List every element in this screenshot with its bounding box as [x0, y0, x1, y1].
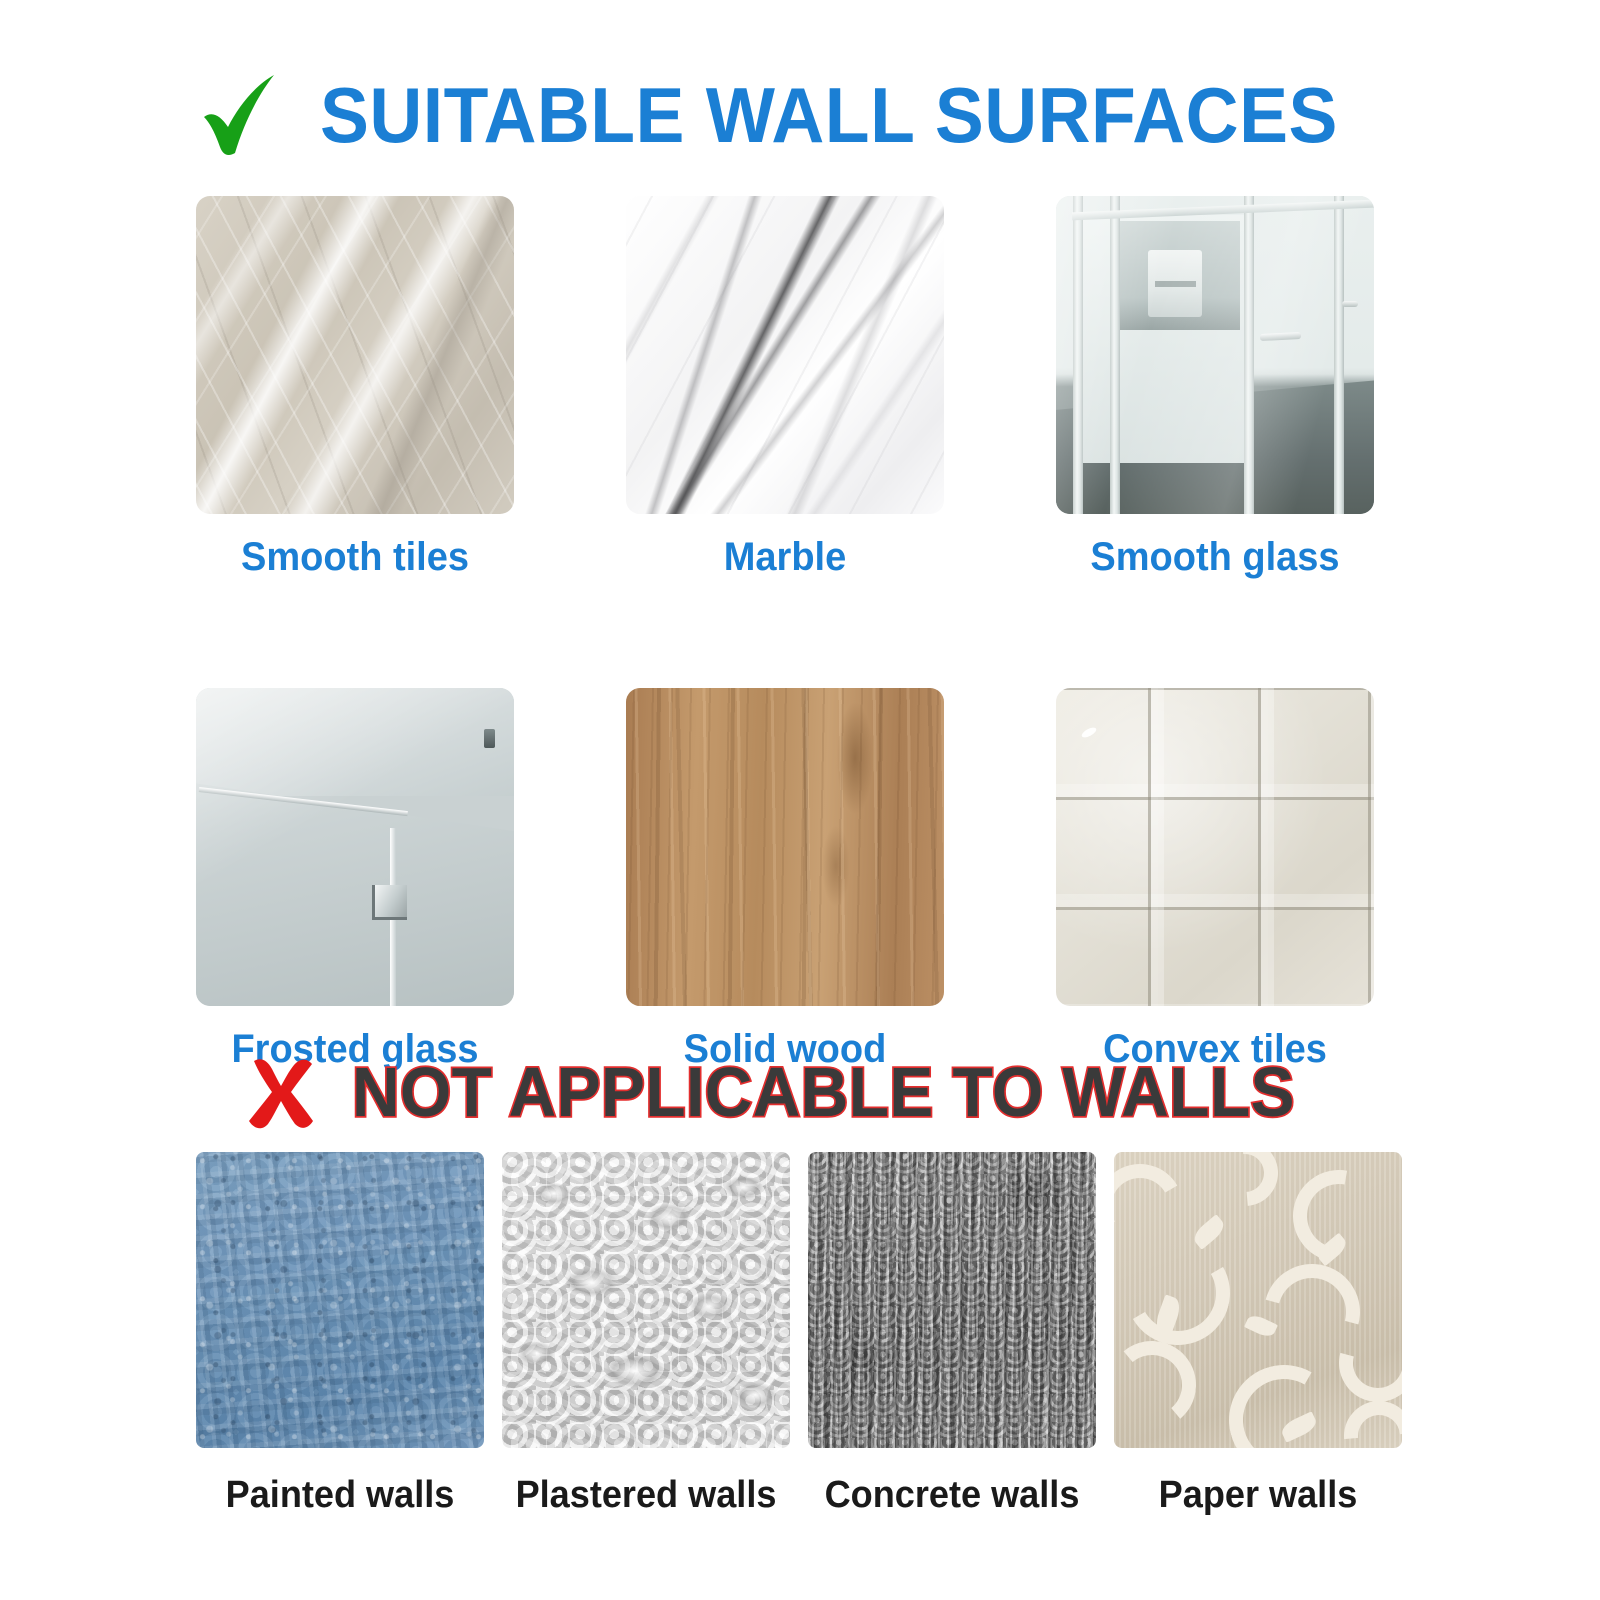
frosted-glass-swatch [196, 688, 514, 1006]
surface-card-painted-walls[interactable]: Painted walls [196, 1152, 484, 1516]
infographic-page: SUITABLE WALL SURFACES Smooth tiles Marb… [0, 0, 1600, 1600]
surface-label-plastered-walls: Plastered walls [509, 1476, 783, 1516]
surface-card-paper-walls[interactable]: Paper walls [1114, 1152, 1402, 1516]
surface-card-convex-tiles[interactable]: Convex tiles [1056, 688, 1374, 1070]
solid-wood-swatch [626, 688, 944, 1006]
surface-label-marble: Marble [634, 536, 936, 578]
surface-card-solid-wood[interactable]: Solid wood [626, 688, 944, 1070]
not-applicable-section-heading: NOT APPLICABLE TO WALLS [0, 1042, 1600, 1142]
surface-card-smooth-tiles[interactable]: Smooth tiles [196, 196, 514, 578]
marble-swatch [626, 196, 944, 514]
surface-card-smooth-glass[interactable]: Smooth glass [1056, 196, 1374, 578]
cross-icon [244, 1055, 318, 1133]
smooth-tiles-swatch [196, 196, 514, 514]
surface-card-frosted-glass[interactable]: Frosted glass [196, 688, 514, 1070]
surface-label-painted-walls: Painted walls [203, 1476, 477, 1516]
surface-label-smooth-tiles: Smooth tiles [204, 536, 506, 578]
surface-label-concrete-walls: Concrete walls [815, 1476, 1089, 1516]
concrete-wall-swatch [808, 1152, 1096, 1448]
check-icon [198, 71, 284, 161]
surface-card-marble[interactable]: Marble [626, 196, 944, 578]
convex-tiles-swatch [1056, 688, 1374, 1006]
surface-label-smooth-glass: Smooth glass [1064, 536, 1366, 578]
surface-card-plastered-walls[interactable]: Plastered walls [502, 1152, 790, 1516]
smooth-glass-swatch [1056, 196, 1374, 514]
surface-card-concrete-walls[interactable]: Concrete walls [808, 1152, 1096, 1516]
suitable-section-heading: SUITABLE WALL SURFACES [0, 60, 1600, 170]
suitable-title: SUITABLE WALL SURFACES [320, 76, 1338, 154]
surface-label-paper-walls: Paper walls [1121, 1476, 1395, 1516]
painted-wall-swatch [196, 1152, 484, 1448]
plastered-wall-swatch [502, 1152, 790, 1448]
not-applicable-title: NOT APPLICABLE TO WALLS [352, 1057, 1295, 1127]
suitable-surfaces-grid: Smooth tiles Marble Smooth g [196, 196, 1404, 1070]
paper-wall-swatch [1114, 1152, 1402, 1448]
not-applicable-surfaces-grid: Painted walls Plastered walls Concrete w… [196, 1152, 1406, 1516]
